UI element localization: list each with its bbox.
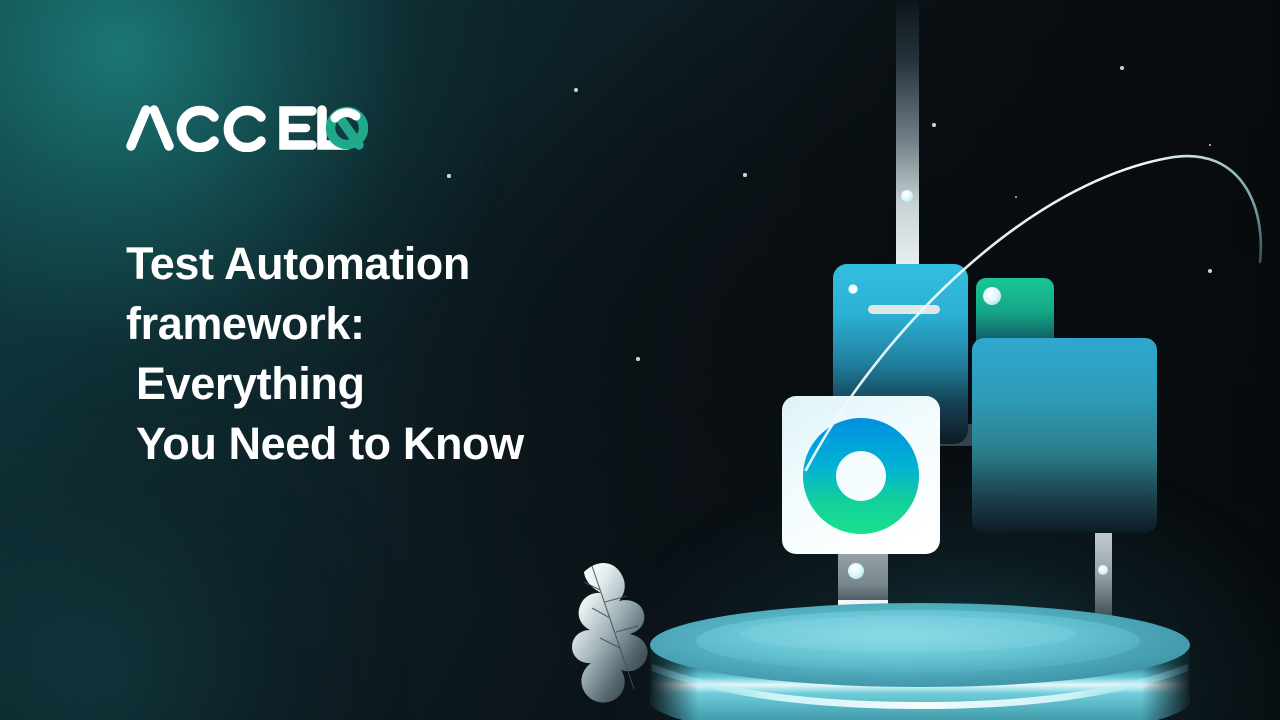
grain-overlay xyxy=(0,0,1280,720)
banner-canvas: Test Automation framework: Everything Yo… xyxy=(0,0,1280,720)
